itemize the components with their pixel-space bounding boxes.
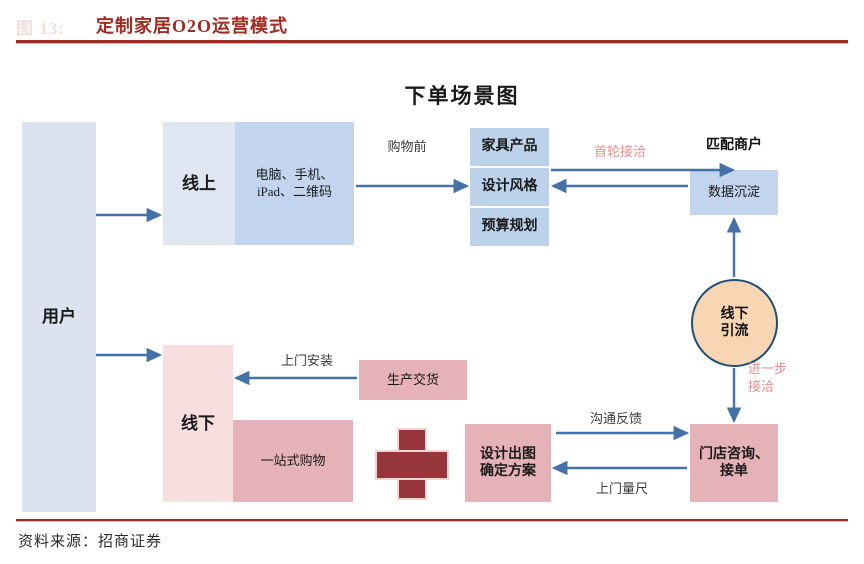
offline-drainage-circle: 线下 引流 bbox=[691, 279, 778, 367]
offline-channel-box: 线下 bbox=[163, 345, 233, 502]
diagram-title: 下单场景图 bbox=[0, 80, 864, 110]
design-plan-line-2: 确定方案 bbox=[480, 463, 536, 481]
devices-line-2: iPad、二维码 bbox=[257, 184, 332, 200]
measure-label: 上门量尺 bbox=[577, 478, 667, 497]
first-contact-label: 首轮接洽 bbox=[580, 143, 660, 161]
header-rule-secondary bbox=[16, 43, 848, 44]
stack-item-style-label: 设计风格 bbox=[482, 178, 538, 196]
drainage-line-2: 引流 bbox=[721, 323, 749, 341]
onestop-shopping-box: 一站式购物 bbox=[233, 420, 353, 502]
further-contact-line-2: 接洽 bbox=[748, 378, 814, 396]
footer-rule-secondary bbox=[16, 521, 848, 522]
online-channel-box: 线上 bbox=[163, 122, 235, 245]
plus-symbol-icon bbox=[375, 428, 445, 496]
drainage-line-1: 线下 bbox=[721, 306, 749, 324]
data-precipitation-box: 数据沉淀 bbox=[690, 170, 778, 215]
store-consult-line-2: 接单 bbox=[720, 463, 748, 481]
stack-item-budget: 预算规划 bbox=[470, 208, 549, 246]
stack-item-furniture: 家具产品 bbox=[470, 128, 549, 166]
production-delivery-label: 生产交货 bbox=[387, 372, 439, 388]
onestop-shopping-label: 一站式购物 bbox=[260, 453, 325, 469]
source-note: 资料来源：招商证券 bbox=[18, 530, 162, 551]
store-consult-line-1: 门店咨询、 bbox=[699, 446, 769, 464]
stack-item-style: 设计风格 bbox=[470, 168, 549, 206]
data-precipitation-label: 数据沉淀 bbox=[708, 184, 760, 200]
user-column-label: 用户 bbox=[42, 306, 76, 327]
devices-line-1: 电脑、手机、 bbox=[255, 167, 333, 183]
pre-purchase-label: 购物前 bbox=[372, 136, 442, 155]
offline-channel-label: 线下 bbox=[181, 413, 215, 434]
stack-item-furniture-label: 家具产品 bbox=[482, 138, 538, 156]
production-delivery-box: 生产交货 bbox=[359, 360, 467, 400]
diagram-title-text: 下单场景图 bbox=[405, 84, 520, 108]
further-contact-label: 进一步 接洽 bbox=[748, 360, 814, 395]
figure-number: 图 13: bbox=[16, 14, 65, 39]
online-devices-box: 电脑、手机、 iPad、二维码 bbox=[235, 122, 354, 245]
online-channel-label: 线上 bbox=[182, 173, 216, 194]
stack-item-budget-label: 预算规划 bbox=[482, 218, 538, 236]
feedback-label: 沟通反馈 bbox=[571, 408, 661, 427]
diagram-canvas: 图 13: 定制家居O2O运营模式 下单场景图 用户 线上 电脑、手机、 iPa… bbox=[0, 0, 864, 564]
install-label: 上门安装 bbox=[262, 350, 352, 369]
design-plan-line-1: 设计出图 bbox=[480, 446, 536, 464]
user-column-box: 用户 bbox=[22, 122, 96, 512]
further-contact-line-1: 进一步 bbox=[748, 360, 814, 378]
page-title: 定制家居O2O运营模式 bbox=[96, 12, 288, 38]
match-merchant-header: 匹配商户 bbox=[686, 134, 782, 154]
design-plan-box: 设计出图 确定方案 bbox=[465, 424, 551, 502]
store-consult-box: 门店咨询、 接单 bbox=[690, 424, 778, 502]
